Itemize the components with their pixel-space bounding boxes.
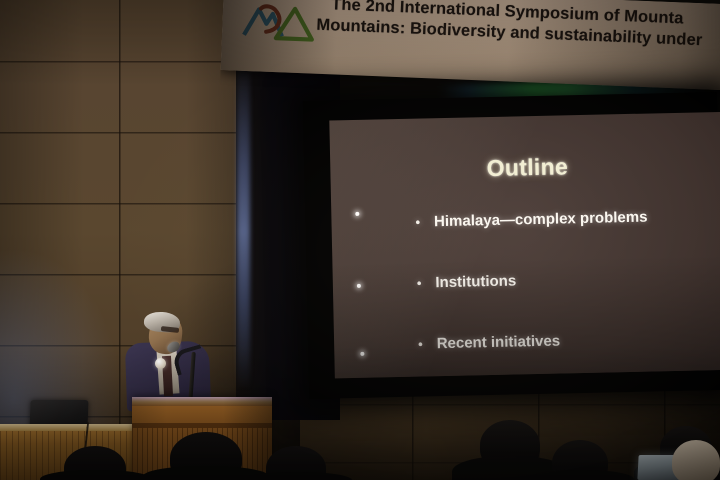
lecture-hall-photo: The 2nd International Symposium of Mount… [0, 0, 720, 480]
presenter-corsage [155, 358, 166, 369]
audience-shoulders [40, 470, 152, 480]
projection-screen-surface: Outline • Himalaya—complex problems • In… [329, 112, 720, 379]
projection-screen-frame: Outline • Himalaya—complex problems • In… [303, 92, 720, 399]
audience-head-lit [672, 440, 720, 480]
presenter [118, 312, 228, 404]
screen-sheen-overlay [329, 112, 720, 379]
audience-shoulders [242, 472, 352, 480]
banner-shadow-overlay [221, 0, 720, 91]
column-blue-light-reflection [237, 60, 250, 390]
audience-shoulders [528, 470, 634, 480]
banner-board: The 2nd International Symposium of Mount… [221, 0, 720, 91]
